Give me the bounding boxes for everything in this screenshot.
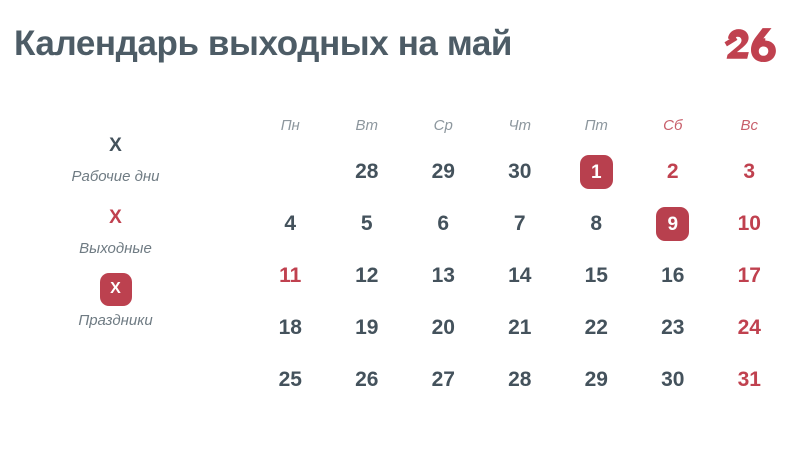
calendar-day-3[interactable]: 3	[711, 146, 788, 198]
calendar-day-23[interactable]: 23	[635, 302, 712, 354]
calendar-day-9[interactable]: 9	[635, 198, 712, 250]
calendar-day-28[interactable]: 28	[329, 146, 406, 198]
brand-26-logo	[722, 26, 778, 70]
page-header: Календарь выходных на май	[0, 0, 800, 96]
calendar-day-13[interactable]: 13	[405, 250, 482, 302]
legend-label-holidays: Праздники	[18, 312, 213, 329]
holiday-badge-icon: X	[100, 273, 132, 306]
calendar-day-10[interactable]: 10	[711, 198, 788, 250]
calendar-day-22[interactable]: 22	[558, 302, 635, 354]
calendar-day-28[interactable]: 28	[482, 354, 559, 406]
calendar-day-1[interactable]: 1	[558, 146, 635, 198]
calendar-day-31[interactable]: 31	[711, 354, 788, 406]
calendar-day-14[interactable]: 14	[482, 250, 559, 302]
weekday-header-0: Пн	[252, 104, 329, 146]
weekday-header-1: Вт	[329, 104, 406, 146]
calendar-day-25[interactable]: 25	[252, 354, 329, 406]
weekday-header-2: Ср	[405, 104, 482, 146]
calendar-day-empty	[252, 146, 329, 198]
calendar-body: 2829301234567891011121314151617181920212…	[252, 146, 788, 406]
legend-item-working-days: X Рабочие дни	[18, 128, 213, 185]
holiday-badge: 1	[580, 155, 613, 189]
legend: X Рабочие дни X Выходные X Праздники	[18, 128, 213, 344]
calendar-week-row: 45678910	[252, 198, 788, 250]
calendar-day-20[interactable]: 20	[405, 302, 482, 354]
calendar-week-row: 282930123	[252, 146, 788, 198]
calendar-day-11[interactable]: 11	[252, 250, 329, 302]
page-title: Календарь выходных на май	[14, 24, 512, 64]
calendar-grid: ПнВтСрЧтПтСбВс 2829301234567891011121314…	[252, 104, 788, 406]
calendar-day-17[interactable]: 17	[711, 250, 788, 302]
calendar-day-26[interactable]: 26	[329, 354, 406, 406]
calendar-day-8[interactable]: 8	[558, 198, 635, 250]
calendar-day-5[interactable]: 5	[329, 198, 406, 250]
legend-swatch-weekends: X	[18, 200, 213, 234]
calendar-day-19[interactable]: 19	[329, 302, 406, 354]
calendar-week-row: 11121314151617	[252, 250, 788, 302]
weekday-header-3: Чт	[482, 104, 559, 146]
calendar-day-27[interactable]: 27	[405, 354, 482, 406]
x-mark-icon: X	[109, 208, 122, 227]
calendar-day-16[interactable]: 16	[635, 250, 712, 302]
legend-item-weekends: X Выходные	[18, 200, 213, 257]
weekday-header-4: Пт	[558, 104, 635, 146]
calendar-day-29[interactable]: 29	[558, 354, 635, 406]
weekday-header-6: Вс	[711, 104, 788, 146]
calendar-day-12[interactable]: 12	[329, 250, 406, 302]
legend-label-weekends: Выходные	[18, 240, 213, 257]
calendar-day-24[interactable]: 24	[711, 302, 788, 354]
calendar-week-row: 25262728293031	[252, 354, 788, 406]
calendar-week-row: 18192021222324	[252, 302, 788, 354]
holiday-badge: 9	[656, 207, 689, 241]
calendar-day-29[interactable]: 29	[405, 146, 482, 198]
calendar-weekday-header-row: ПнВтСрЧтПтСбВс	[252, 104, 788, 146]
calendar-day-6[interactable]: 6	[405, 198, 482, 250]
legend-swatch-holidays: X	[18, 272, 213, 306]
calendar-day-4[interactable]: 4	[252, 198, 329, 250]
calendar-day-30[interactable]: 30	[482, 146, 559, 198]
x-mark-icon: X	[109, 136, 122, 155]
calendar-day-2[interactable]: 2	[635, 146, 712, 198]
calendar-day-7[interactable]: 7	[482, 198, 559, 250]
calendar-day-21[interactable]: 21	[482, 302, 559, 354]
legend-swatch-working-days: X	[18, 128, 213, 162]
calendar-day-15[interactable]: 15	[558, 250, 635, 302]
legend-label-working-days: Рабочие дни	[18, 168, 213, 185]
calendar-day-18[interactable]: 18	[252, 302, 329, 354]
calendar-day-30[interactable]: 30	[635, 354, 712, 406]
legend-item-holidays: X Праздники	[18, 272, 213, 329]
weekday-header-5: Сб	[635, 104, 712, 146]
